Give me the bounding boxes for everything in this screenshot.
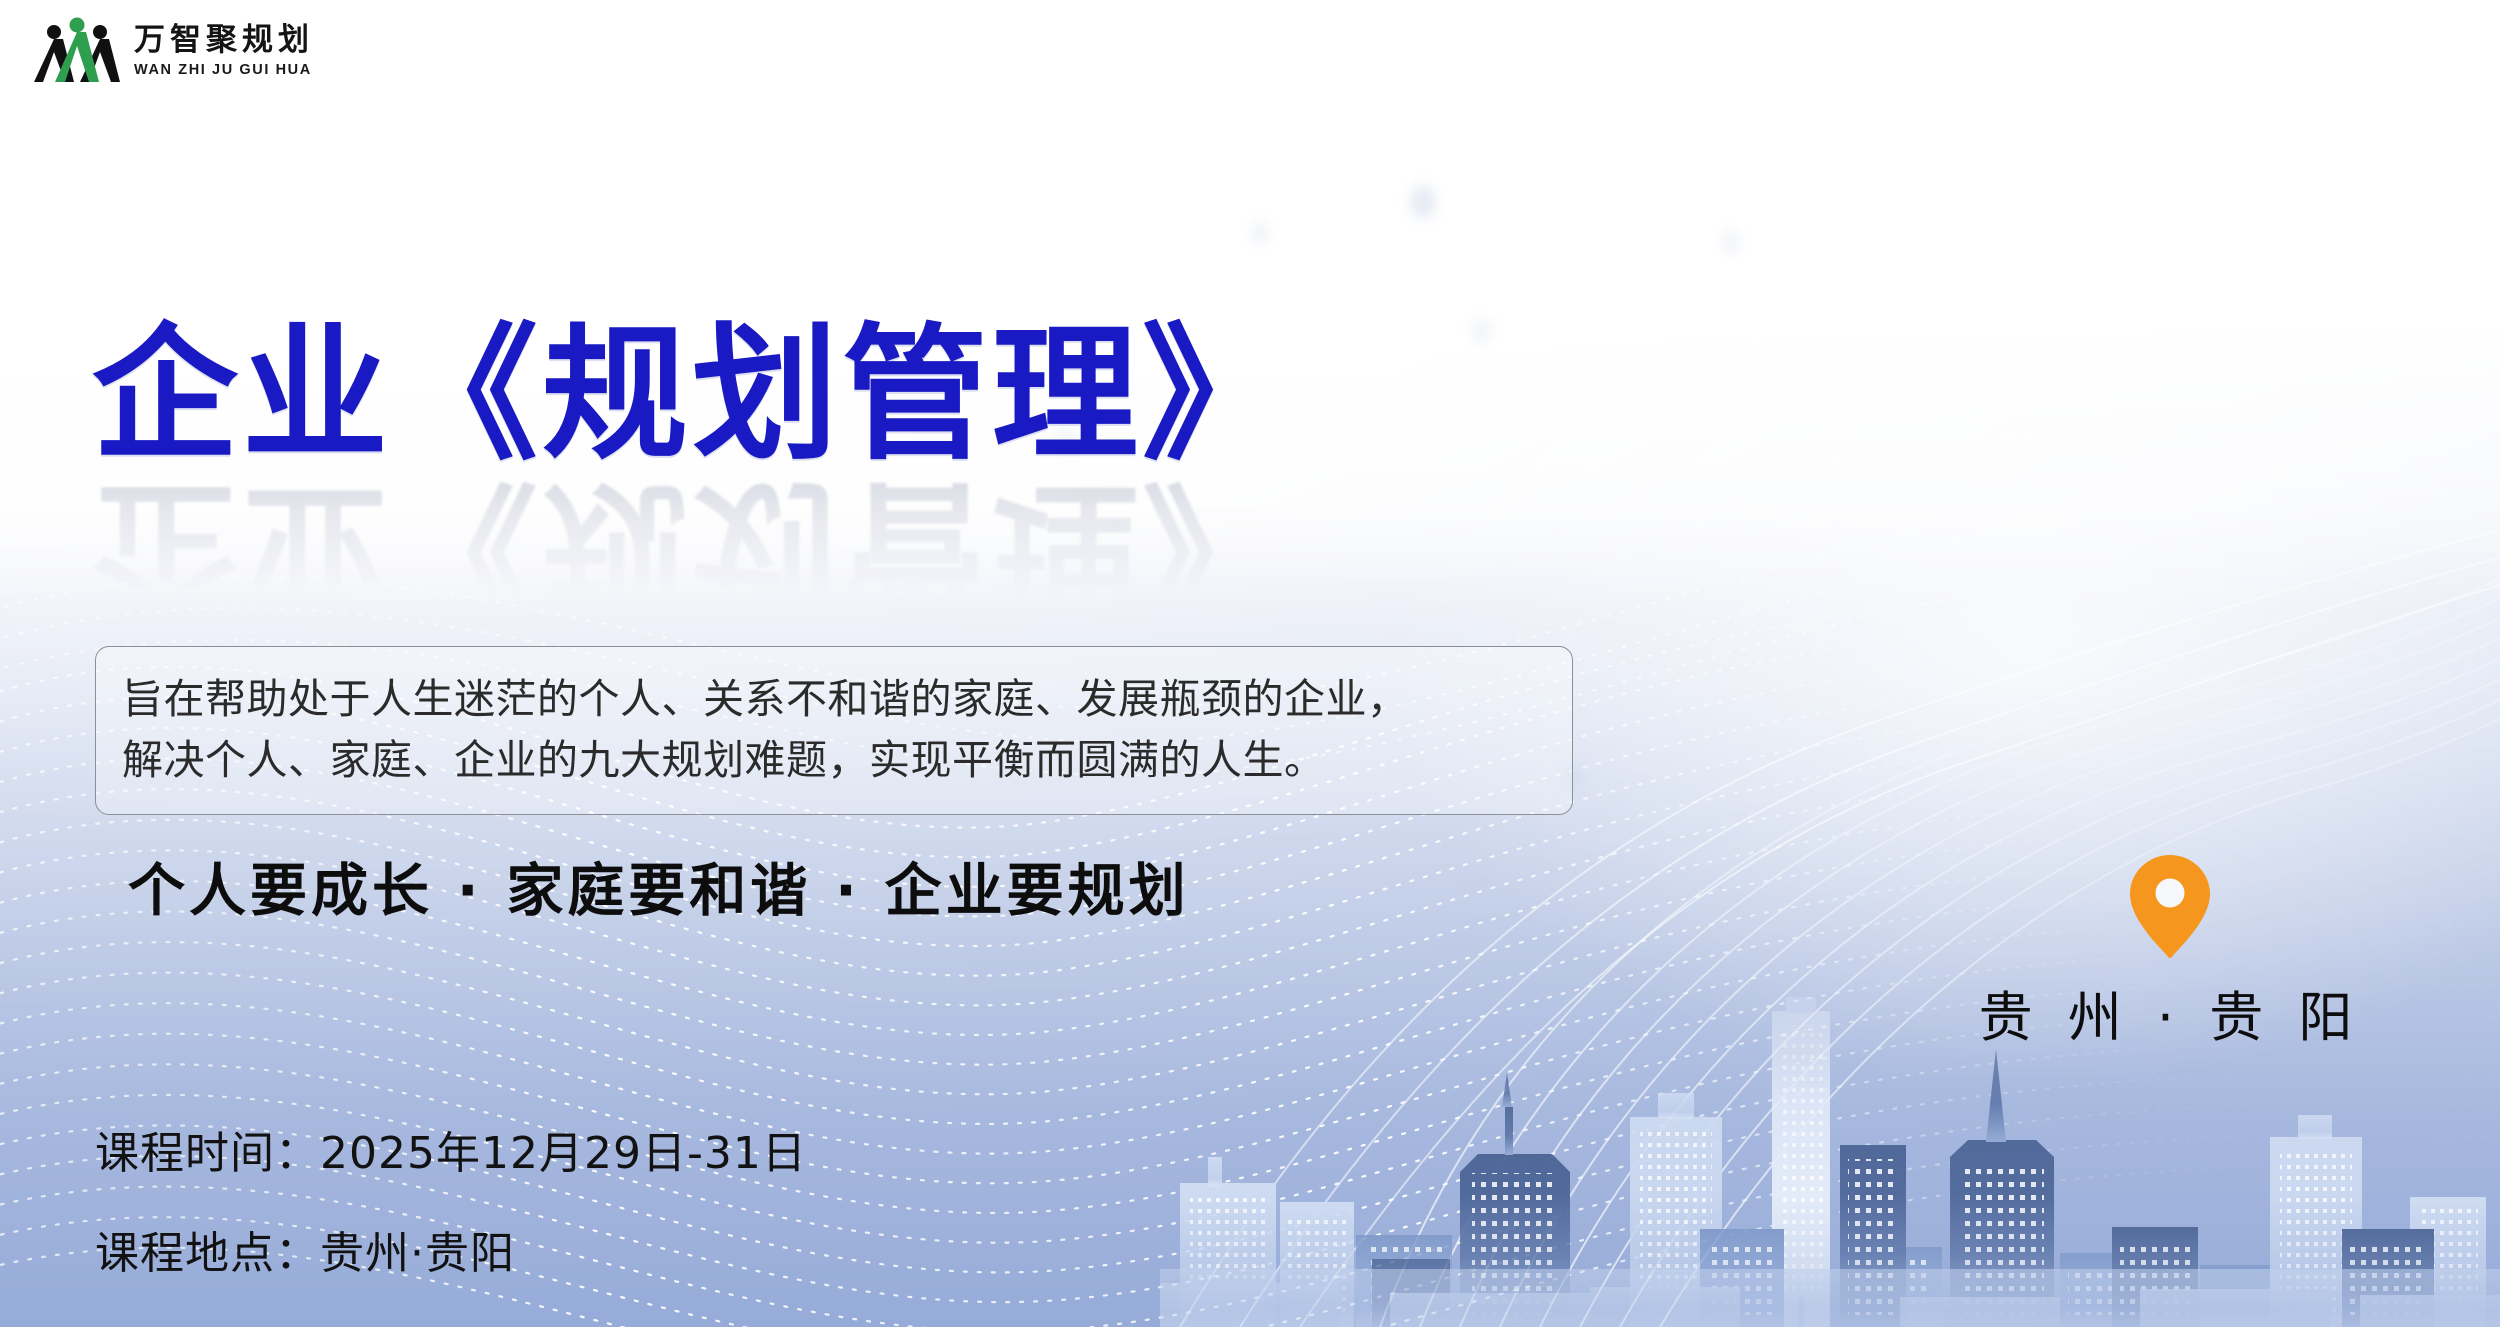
brand-name-cn: 万智聚规划 <box>134 25 314 56</box>
bokeh-speck <box>1722 230 1740 254</box>
course-time: 课程时间：2025年12月29日-31日 <box>95 1117 807 1181</box>
location-block: 贵 州 · 贵 阳 <box>1960 855 2380 1052</box>
description-line-1: 旨在帮助处于人生迷茫的个人、关系不和谐的家庭、发展瓶颈的企业， <box>122 669 1546 730</box>
brand-name-pinyin: WAN ZHI JU GUI HUA <box>134 63 314 78</box>
map-pin-icon <box>2130 855 2210 959</box>
page-title: 企业《规划管理》 <box>92 322 1292 468</box>
location-name: 贵 州 · 贵 阳 <box>1960 973 2380 1052</box>
description-box: 旨在帮助处于人生迷茫的个人、关系不和谐的家庭、发展瓶颈的企业， 解决个人、家庭、… <box>95 646 1573 815</box>
course-place: 课程地点：贵州·贵阳 <box>95 1217 807 1281</box>
bokeh-speck <box>1252 222 1268 244</box>
course-meta: 课程时间：2025年12月29日-31日 课程地点：贵州·贵阳 <box>95 1117 807 1281</box>
page-title-reflection: 企业《规划管理》 <box>92 474 1292 620</box>
brand-logo[interactable]: 万智聚规划 WAN ZHI JU GUI HUA <box>34 16 314 86</box>
hero-title-block: 企业《规划管理》 企业《规划管理》 <box>92 322 1292 620</box>
bokeh-speck <box>1410 185 1436 219</box>
three-people-logo-icon <box>34 16 120 86</box>
poster-canvas: 万智聚规划 WAN ZHI JU GUI HUA 企业《规划管理》 企业《规划管… <box>0 0 2500 1327</box>
description-line-2: 解决个人、家庭、企业的九大规划难题，实现平衡而圆满的人生。 <box>122 730 1546 791</box>
slogan-text: 个人要成长 · 家庭要和谐 · 企业要规划 <box>128 845 1190 927</box>
bokeh-speck <box>1472 318 1492 344</box>
